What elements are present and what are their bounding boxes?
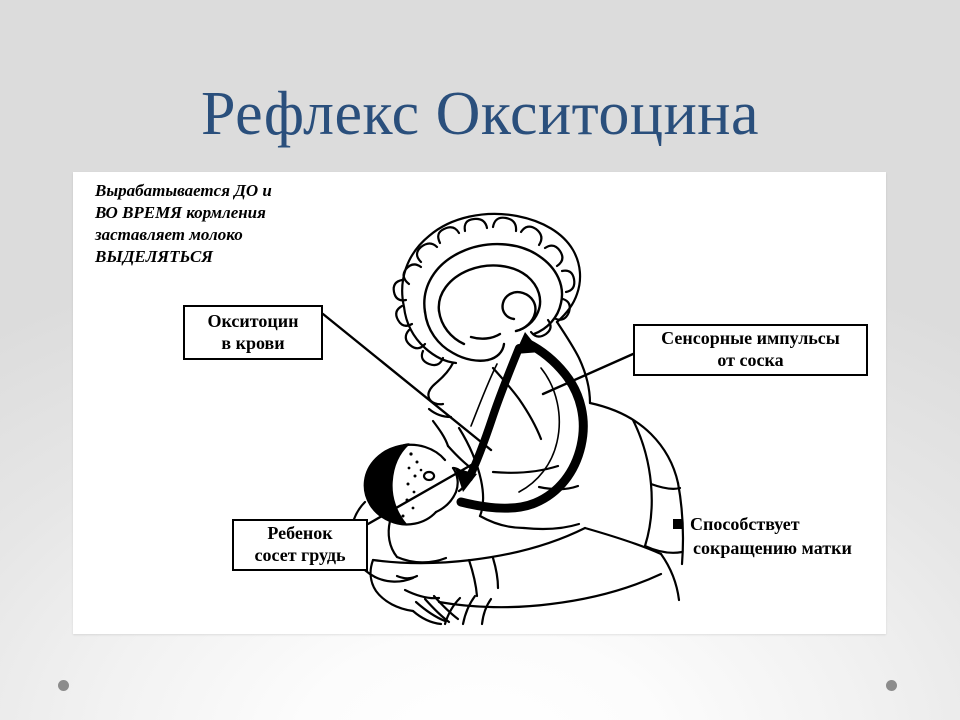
bottom-right-dot [886, 680, 897, 691]
infant-hair-texture [402, 452, 423, 517]
arrow-sensory-pathway [461, 343, 583, 508]
label-box-oxytocin-line-2: в крови [221, 333, 284, 355]
label-box-sensory-impulses: Сенсорные импульсы от соска [633, 324, 868, 376]
label-box-sensory-line-2: от соска [717, 350, 783, 372]
square-bullet-icon [673, 519, 683, 529]
diagram-panel: Вырабатывается ДО и ВО ВРЕМЯ кормления з… [73, 172, 886, 634]
label-box-oxytocin-in-blood: Окситоцин в крови [183, 305, 323, 360]
bullet-note-uterine-contraction: Способствует сокращению матки [673, 513, 886, 561]
infant-hair [365, 444, 409, 524]
intro-note-line-3: заставляет молоко [95, 224, 365, 246]
page-title: Рефлекс Окситоцина [0, 82, 960, 147]
intro-note: Вырабатывается ДО и ВО ВРЕМЯ кормления з… [95, 180, 365, 268]
mother-hair [394, 214, 580, 365]
bullet-note-line-1: Способствует [690, 514, 800, 534]
bottom-left-dot [58, 680, 69, 691]
bullet-note-line-2: сокращению матки [673, 537, 886, 561]
label-box-baby-line-2: сосет грудь [255, 545, 346, 567]
mother-brain [424, 244, 562, 361]
mother-torso [371, 403, 683, 624]
label-box-baby-line-1: Ребенок [267, 523, 332, 545]
slide-canvas: Рефлекс Окситоцина [0, 0, 960, 720]
label-box-baby-suckles: Ребенок сосет грудь [232, 519, 368, 571]
intro-note-line-1: Вырабатывается ДО и [95, 180, 365, 202]
label-box-sensory-line-1: Сенсорные импульсы [661, 328, 840, 350]
intro-note-line-4: ВЫДЕЛЯТЬСЯ [95, 246, 365, 268]
intro-note-line-2: ВО ВРЕМЯ кормления [95, 202, 365, 224]
bullet-note-row-1: Способствует [673, 513, 886, 537]
label-box-oxytocin-line-1: Окситоцин [207, 311, 298, 333]
